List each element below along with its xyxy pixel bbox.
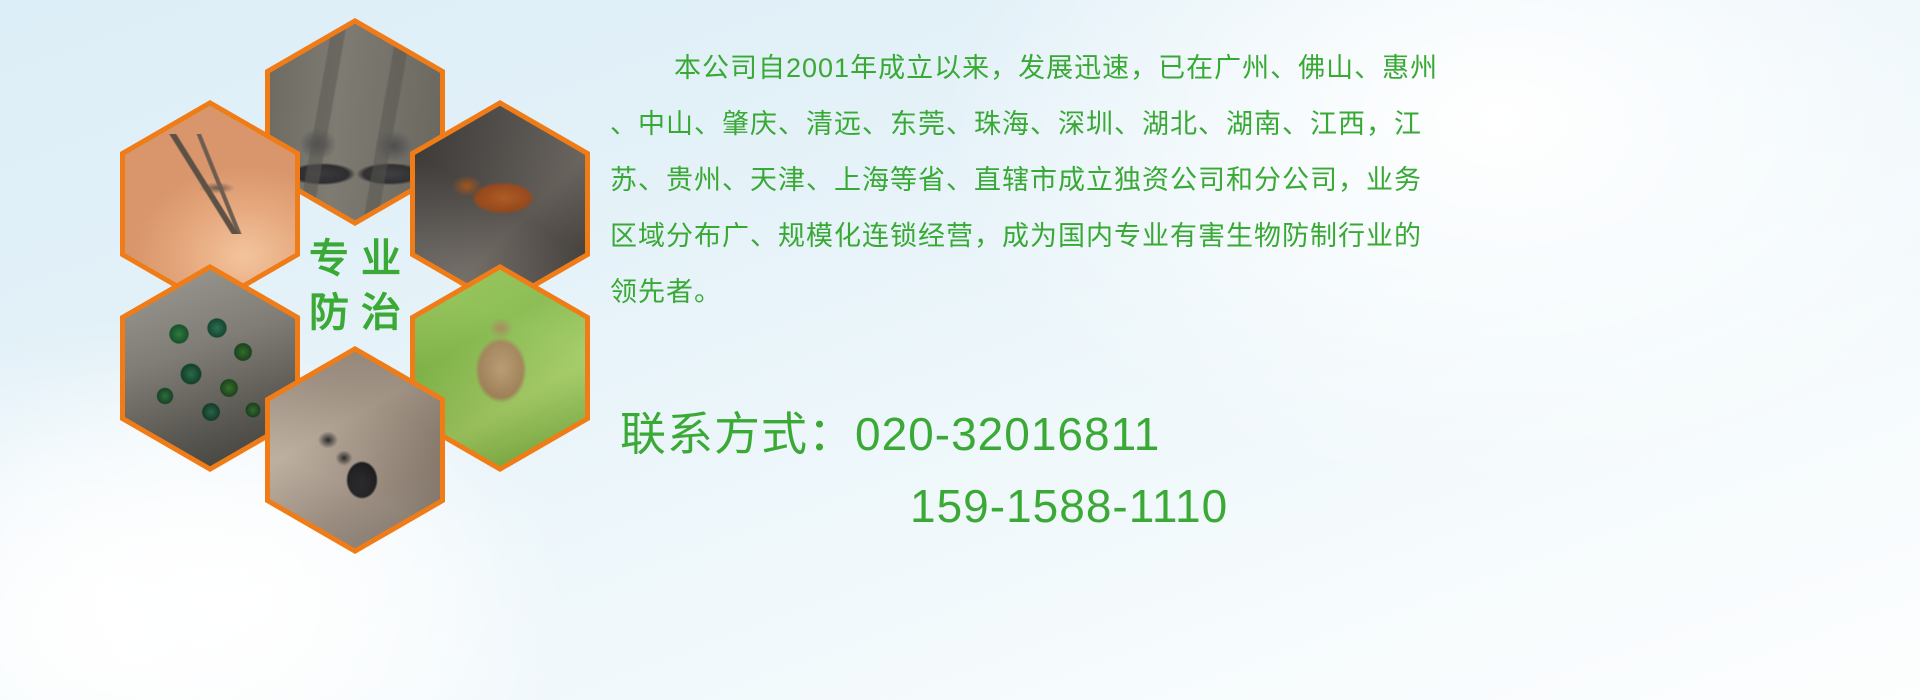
contact-block: 联系方式：020-32016811 159-1588-1110: [620, 398, 1380, 542]
contact-label: 联系方式：: [620, 408, 855, 460]
center-label-line2: 防治: [297, 293, 413, 333]
center-label: 专业 防治: [270, 188, 440, 384]
banner-root: 专业 防治 本公司自2001年成立以来，发展迅速，已在广州、佛山、惠州 、中山、…: [0, 0, 1920, 700]
hex-inner: 专业 防治: [270, 188, 440, 384]
contact-secondary-line: 159-1588-1110: [620, 470, 1380, 542]
honeycomb-cluster: 专业 防治: [80, 0, 600, 580]
description-line-1: 本公司自2001年成立以来，发展迅速，已在广州、佛山、惠州: [610, 40, 1330, 96]
company-description: 本公司自2001年成立以来，发展迅速，已在广州、佛山、惠州 、中山、肇庆、清远、…: [610, 40, 1330, 320]
description-line-5: 领先者。: [610, 264, 1330, 320]
contact-phone-primary[interactable]: 020-32016811: [855, 408, 1160, 460]
description-line-2: 、中山、肇庆、清远、东莞、珠海、深圳、湖北、湖南、江西，江: [610, 96, 1330, 152]
contact-phone-secondary[interactable]: 159-1588-1110: [910, 480, 1228, 532]
contact-primary-line: 联系方式：020-32016811: [620, 398, 1380, 470]
center-label-line1: 专业: [297, 239, 413, 279]
description-line-4: 区域分布广、规模化连锁经营，成为国内专业有害生物防制行业的: [610, 208, 1330, 264]
description-line-3: 苏、贵州、天津、上海等省、直辖市成立独资公司和分公司，业务: [610, 152, 1330, 208]
